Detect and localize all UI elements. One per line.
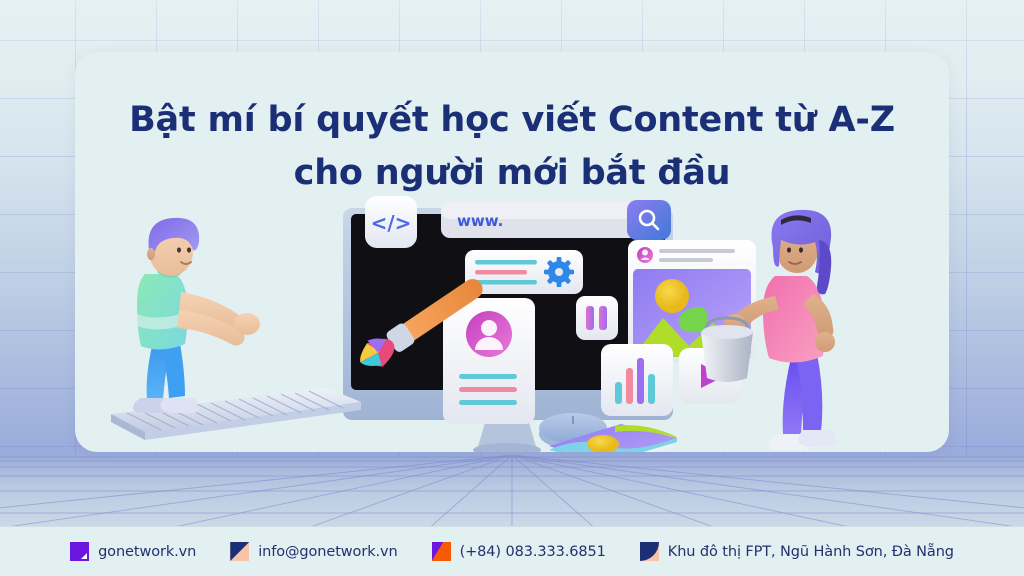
footer-address-label: Khu đô thị FPT, Ngũ Hành Sơn, Đà Nẵng bbox=[668, 544, 954, 560]
page-title: Bật mí bí quyết học viết Content từ A-Z … bbox=[75, 94, 949, 199]
footer-item-phone[interactable]: (+84) 083.333.6851 bbox=[432, 542, 606, 561]
slide-canvas: Bật mí bí quyết học viết Content từ A-Z … bbox=[0, 0, 1024, 576]
gear-icon bbox=[544, 257, 574, 287]
url-bar: www. bbox=[441, 200, 671, 240]
hero-illustration: </> www. bbox=[75, 192, 949, 452]
footer-item-email[interactable]: info@gonetwork.vn bbox=[230, 542, 397, 561]
settings-list-card bbox=[465, 250, 583, 294]
pause-mini-card bbox=[576, 296, 618, 340]
bar-chart-card bbox=[601, 344, 673, 416]
pin-icon bbox=[640, 542, 659, 561]
mail-icon bbox=[230, 542, 249, 561]
character-left bbox=[133, 218, 260, 413]
contact-footer: gonetwork.vn info@gonetwork.vn (+84) 083… bbox=[0, 526, 1024, 576]
footer-item-website[interactable]: gonetwork.vn bbox=[70, 542, 196, 561]
code-badge-icon: </> bbox=[365, 196, 417, 248]
footer-email-label: info@gonetwork.vn bbox=[258, 544, 397, 560]
profile-card bbox=[443, 298, 535, 424]
globe-icon bbox=[70, 542, 89, 561]
footer-phone-label: (+84) 083.333.6851 bbox=[460, 544, 606, 560]
svg-text:www.: www. bbox=[457, 212, 503, 230]
page-title-line-1: Bật mí bí quyết học viết Content từ A-Z bbox=[129, 100, 895, 140]
content-card: Bật mí bí quyết học viết Content từ A-Z … bbox=[75, 52, 949, 452]
svg-text:</>: </> bbox=[371, 211, 412, 235]
footer-item-address[interactable]: Khu đô thị FPT, Ngũ Hành Sơn, Đà Nẵng bbox=[640, 542, 954, 561]
footer-website-label: gonetwork.vn bbox=[98, 544, 196, 560]
phone-icon bbox=[432, 542, 451, 561]
